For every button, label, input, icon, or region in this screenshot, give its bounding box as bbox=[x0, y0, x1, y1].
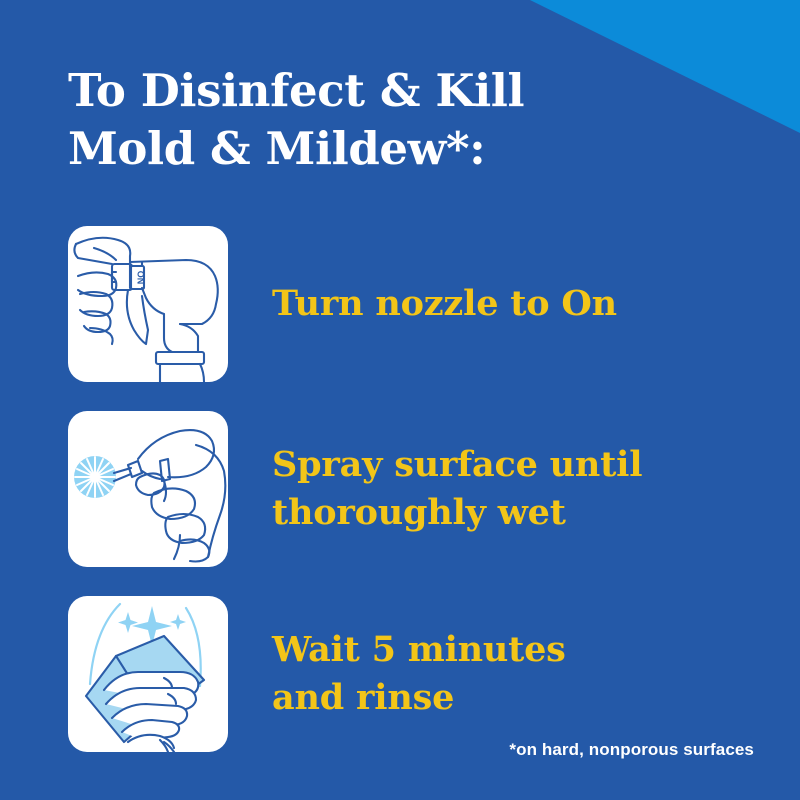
page-title-line-1: To Disinfect & Kill bbox=[68, 62, 688, 120]
spray-surface-icon bbox=[68, 411, 228, 567]
footnote-text: *on hard, nonporous surfaces bbox=[509, 740, 754, 760]
step-2-label: Spray surface until thoroughly wet bbox=[272, 441, 768, 537]
step-item-1: ON Turn nozzle to On bbox=[68, 226, 768, 382]
spray-burst bbox=[74, 456, 116, 498]
step-1-label: Turn nozzle to On bbox=[272, 280, 768, 328]
step-1-icon-card: ON bbox=[68, 226, 228, 382]
step-1-label-line-1: Turn nozzle to On bbox=[272, 280, 768, 328]
step-3-label-line-1: Wait 5 minutes bbox=[272, 626, 768, 674]
step-item-2: Spray surface until thoroughly wet bbox=[68, 411, 768, 567]
nozzle-on-label: ON bbox=[136, 271, 146, 285]
step-3-icon-card bbox=[68, 596, 228, 752]
instruction-poster: To Disinfect & Kill Mold & Mildew*: bbox=[0, 0, 800, 800]
step-2-label-line-2: thoroughly wet bbox=[272, 489, 768, 537]
step-2-label-line-1: Spray surface until bbox=[272, 441, 768, 489]
step-item-3: Wait 5 minutes and rinse bbox=[68, 596, 768, 752]
turn-nozzle-icon: ON bbox=[68, 226, 228, 382]
wipe-cloth-icon bbox=[68, 596, 228, 752]
step-3-label-line-2: and rinse bbox=[272, 674, 768, 722]
step-3-label: Wait 5 minutes and rinse bbox=[272, 626, 768, 722]
page-title: To Disinfect & Kill Mold & Mildew*: bbox=[68, 62, 688, 178]
step-2-icon-card bbox=[68, 411, 228, 567]
page-title-line-2: Mold & Mildew*: bbox=[68, 120, 688, 178]
